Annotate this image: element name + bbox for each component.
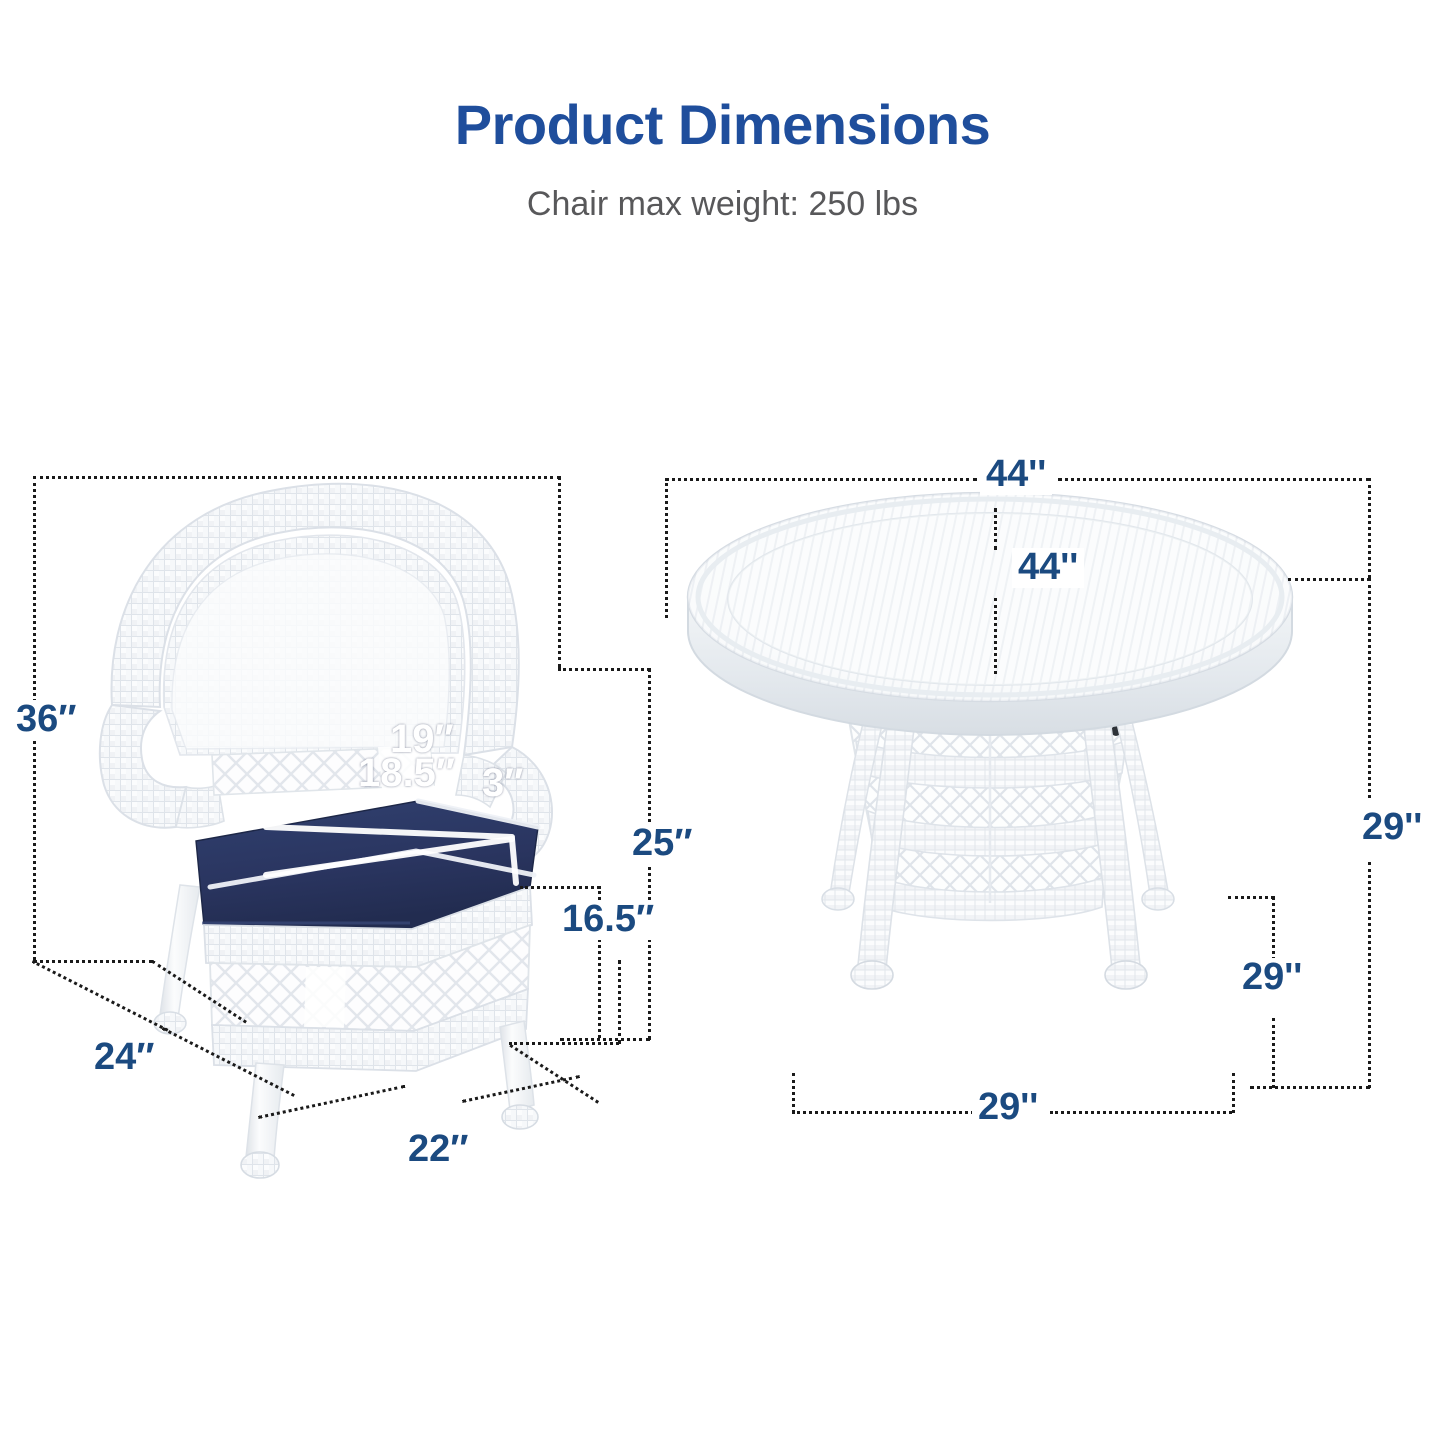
- table-height-line-upper: [1368, 578, 1371, 798]
- table-top: [688, 493, 1292, 735]
- table-base-width-line-left: [792, 1111, 974, 1114]
- product-dimensions-diagram: Product Dimensions Chair max weight: 250…: [0, 0, 1445, 1445]
- chair-cushion-leaders: [60, 455, 640, 1115]
- table-base-width-left-riser: [792, 1073, 795, 1113]
- table-height-line-lower: [1368, 862, 1371, 1088]
- table-width-label: 44'': [980, 455, 1052, 495]
- page-subtitle: Chair max weight: 250 lbs: [0, 185, 1445, 224]
- table-depth-label: 44'': [1012, 548, 1084, 588]
- table-base-height-label: 29'': [1236, 958, 1308, 998]
- table-width-line-right: [1058, 478, 1370, 481]
- table-height-label: 29'': [1356, 808, 1428, 848]
- cushion-depth-label: 18.5″: [352, 752, 461, 794]
- page-title: Product Dimensions: [0, 92, 1445, 157]
- table-depth-line-upper: [994, 508, 997, 550]
- cushion-thickness-label: 3″: [476, 762, 529, 804]
- table-depth-line-lower: [994, 598, 997, 674]
- table-height-leader-top: [1288, 578, 1370, 581]
- table-illustration: [680, 495, 1300, 1095]
- table-base-width-right-riser: [1232, 1073, 1235, 1113]
- table-base-width-label: 29'': [972, 1088, 1044, 1128]
- table-width-box-left: [665, 478, 668, 618]
- table-base-width-line-right: [1050, 1111, 1232, 1114]
- table-width-box-right: [1368, 478, 1371, 578]
- chair-width-label: 22″: [402, 1130, 474, 1170]
- table-height-leader-bottom: [1250, 1086, 1370, 1089]
- table-base-height-lower: [1272, 1018, 1275, 1088]
- table-width-line-left: [665, 478, 977, 481]
- table-base-height-leader: [1228, 896, 1274, 899]
